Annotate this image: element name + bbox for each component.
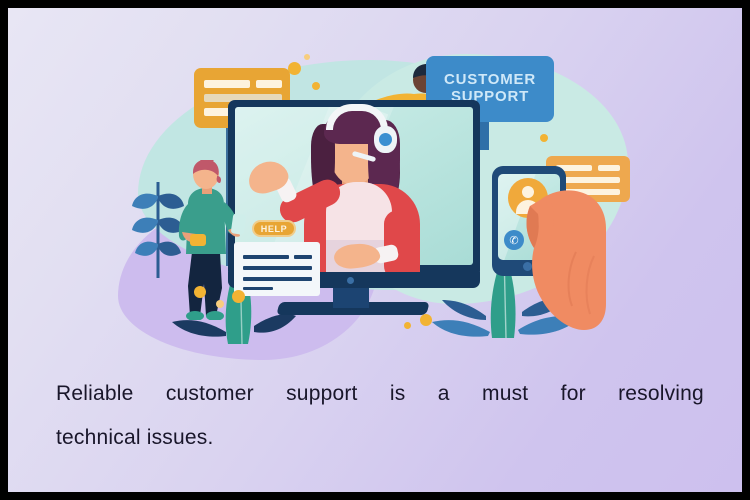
decor-dot <box>304 54 310 60</box>
pointing-hand <box>522 186 606 332</box>
card-text-line <box>243 266 312 270</box>
customer-support-illustration: CUSTOMER SUPPORT <box>128 50 638 360</box>
card-text-line <box>294 255 312 259</box>
caption-word: must <box>482 372 528 416</box>
headset-earcup-icon <box>374 126 397 153</box>
help-badge: HELP <box>252 220 296 237</box>
card-text-line <box>243 277 312 281</box>
caption-word: resolving <box>618 372 704 416</box>
bubble-text-line <box>256 80 282 88</box>
decor-dot <box>194 286 206 298</box>
image-canvas: CUSTOMER SUPPORT <box>8 8 742 492</box>
caption-word: for <box>561 372 586 416</box>
caption-word: is <box>390 372 406 416</box>
bubble-pole <box>480 120 489 150</box>
decor-dot <box>232 290 245 303</box>
caption-line-1: Reliable customer support is a must for … <box>56 372 704 416</box>
monitor-neck <box>333 286 369 308</box>
phone-call-icon[interactable]: ✆ <box>504 230 524 250</box>
card-text-line <box>243 255 289 259</box>
bubble-text-line <box>204 80 250 88</box>
decor-dot <box>288 62 301 75</box>
decor-dot <box>540 134 548 142</box>
image-frame: CUSTOMER SUPPORT <box>0 0 750 500</box>
monitor-power-led <box>347 277 354 284</box>
caption-word: support <box>286 372 357 416</box>
decor-dot <box>420 314 432 326</box>
decor-dot <box>216 300 224 308</box>
caption-word: customer <box>166 372 254 416</box>
caption-word: a <box>438 372 450 416</box>
caption-word: Reliable <box>56 372 133 416</box>
caption-line-2: technical issues. <box>56 416 704 460</box>
customer-support-line1: CUSTOMER <box>444 72 536 89</box>
card-text-line <box>598 165 620 171</box>
caption: Reliable customer support is a must for … <box>56 372 704 460</box>
decor-dot <box>404 322 411 329</box>
